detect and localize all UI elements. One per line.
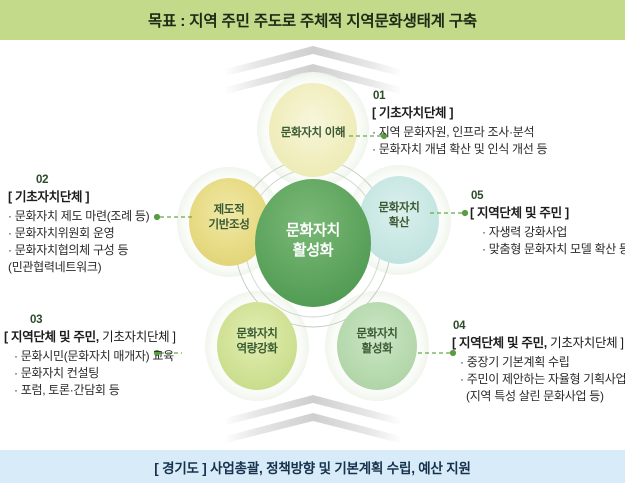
callout-number: 02 <box>36 172 149 188</box>
footer-title: [ 경기도 ] 사업총괄, 정책방향 및 기본계획 수립, 예산 지원 <box>154 457 471 477</box>
bubble-center[interactable] <box>255 179 371 307</box>
callout-04: 04 [ 지역단체 및 주민, 기초자치단체 ] · 중장기 기본계획 수립 ·… <box>452 318 625 405</box>
callout-line: · 문화자치 제도 마련(조례 등) <box>8 208 149 225</box>
connector-dot-05 <box>462 210 468 216</box>
callout-line: · 주민이 제안하는 자율형 기획사업 등 <box>452 371 625 388</box>
callout-line: · 자생력 강화사업 <box>470 224 625 241</box>
bubble-capacity[interactable] <box>217 302 297 390</box>
callout-line: · 포럼, 토론·간담회 등 <box>4 382 176 399</box>
infographic-root: 목표 : 지역 주민 주도로 주체적 지역문화생태계 구축 <box>0 0 625 483</box>
bubble-understanding[interactable] <box>269 83 357 177</box>
callout-subnote: (지역 특성 살린 문화사업 등) <box>452 388 625 405</box>
callout-line: · 지역 문화자원, 인프라 조사·분석 <box>372 124 547 141</box>
callout-heading-bold: [ 기초자치단체 ] <box>372 106 453 120</box>
callout-05: 05 [ 지역단체 및 주민 ] · 자생력 강화사업 · 맞춤형 문화자치 모… <box>470 188 625 258</box>
callout-03: 03 [ 지역단체 및 주민, 기초자치단체 ] · 문화시민(문화자치 매개자… <box>4 312 176 399</box>
callout-heading-bold: [ 기초자치단체 ] <box>8 190 89 204</box>
callout-line: · 문화자치위원회 운영 <box>8 225 149 242</box>
callout-heading-soft: 기초자치단체 ] <box>99 330 176 344</box>
chevron-up-bottom <box>226 395 400 443</box>
footer-banner: [ 경기도 ] 사업총괄, 정책방향 및 기본계획 수립, 예산 지원 <box>0 450 625 483</box>
callout-heading-bold: [ 지역단체 및 주민 ] <box>470 206 569 220</box>
callout-02: 02 [ 기초자치단체 ] · 문화자치 제도 마련(조례 등) · 문화자치위… <box>8 172 149 276</box>
callout-heading: [ 지역단체 및 주민, 기초자치단체 ] <box>452 335 625 353</box>
header-banner: 목표 : 지역 주민 주도로 주체적 지역문화생태계 구축 <box>0 0 625 40</box>
bubble-diffusion[interactable] <box>359 176 439 264</box>
callout-heading-bold: [ 지역단체 및 주민, <box>4 330 99 344</box>
callout-subnote: (민관협력네트워크) <box>8 259 149 276</box>
callout-number: 01 <box>373 88 547 104</box>
callout-01: 01 [ 기초자치단체 ] · 지역 문화자원, 인프라 조사·분석 · 문화자… <box>372 88 547 158</box>
callout-line: · 문화자치 개념 확산 및 인식 개선 등 <box>372 141 547 158</box>
callout-line: · 문화자치협의체 구성 등 <box>8 242 149 259</box>
connector-dot-02 <box>154 214 160 220</box>
callout-heading: [ 지역단체 및 주민, 기초자치단체 ] <box>4 329 176 347</box>
callout-number: 04 <box>453 318 625 334</box>
bubble-activation[interactable] <box>337 302 417 390</box>
callout-heading: [ 지역단체 및 주민 ] <box>470 205 625 223</box>
page-title: 목표 : 지역 주민 주도로 주체적 지역문화생태계 구축 <box>148 9 477 31</box>
callout-heading: [ 기초자치단체 ] <box>372 105 547 123</box>
callout-number: 03 <box>30 312 176 328</box>
callout-heading-soft: 기초자치단체 ] <box>547 336 624 350</box>
callout-heading: [ 기초자치단체 ] <box>8 189 149 207</box>
callout-line: · 문화자치 컨설팅 <box>4 365 176 382</box>
callout-line: · 맞춤형 문화자치 모델 확산 등 <box>470 241 625 258</box>
callout-line: · 문화시민(문화자치 매개자) 교육 <box>4 348 176 365</box>
callout-heading-bold: [ 지역단체 및 주민, <box>452 336 547 350</box>
callout-line: · 중장기 기본계획 수립 <box>452 354 625 371</box>
callout-number: 05 <box>471 188 625 204</box>
